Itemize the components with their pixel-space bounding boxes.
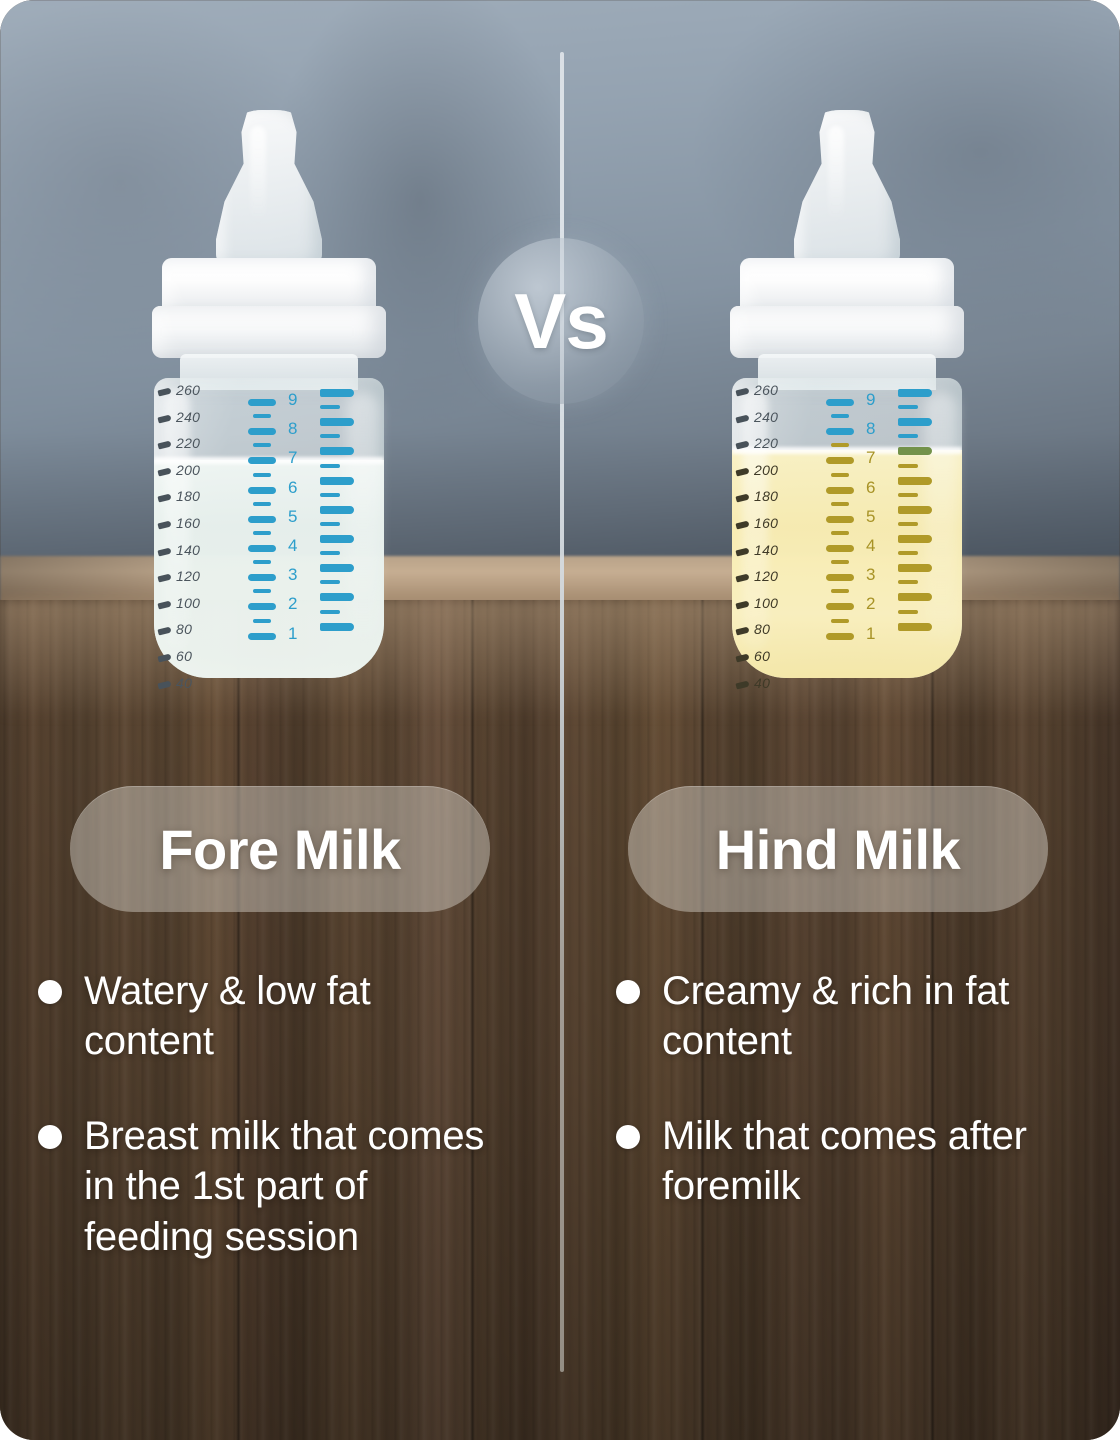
ml-label: 140 bbox=[176, 542, 200, 558]
versus-badge: Vs bbox=[478, 238, 644, 404]
ml-label: 180 bbox=[176, 488, 200, 504]
oz-minor-tick bbox=[320, 493, 340, 497]
oz-tick bbox=[248, 574, 276, 581]
oz-label: 3 bbox=[866, 565, 875, 585]
oz-minor-tick bbox=[831, 443, 849, 447]
ml-label: 40 bbox=[176, 675, 192, 691]
oz-minor-tick bbox=[320, 522, 340, 526]
oz-tick bbox=[320, 506, 354, 514]
oz-minor-tick bbox=[831, 502, 849, 506]
pill-label: Fore Milk bbox=[159, 817, 400, 882]
oz-scale-column-secondary bbox=[898, 382, 954, 645]
oz-minor-tick bbox=[253, 531, 271, 535]
oz-tick bbox=[898, 389, 932, 397]
oz-minor-tick bbox=[320, 405, 340, 409]
ml-label: 160 bbox=[176, 515, 200, 531]
oz-minor-tick bbox=[831, 473, 849, 477]
bullet-text: Watery & low fat content bbox=[84, 966, 504, 1067]
measurement-scale: 260 240 220 200 180 160 140 120 100 80 6… bbox=[718, 382, 976, 682]
oz-label: 5 bbox=[866, 507, 875, 527]
ml-tick bbox=[735, 574, 749, 583]
oz-tick bbox=[248, 487, 276, 494]
ml-label: 100 bbox=[176, 595, 200, 611]
oz-minor-tick bbox=[253, 560, 271, 564]
oz-tick bbox=[248, 545, 276, 552]
ml-label: 60 bbox=[754, 648, 770, 664]
bullet-dot-icon bbox=[616, 980, 640, 1004]
oz-scale-column: 9 8 7 6 5 4 3 2 1 bbox=[826, 390, 886, 653]
ml-label: 200 bbox=[754, 462, 778, 478]
ml-label: 240 bbox=[754, 409, 778, 425]
oz-minor-tick bbox=[320, 464, 340, 468]
oz-minor-tick bbox=[898, 551, 918, 555]
ml-tick bbox=[735, 600, 749, 609]
list-item: Breast milk that comes in the 1st part o… bbox=[38, 1111, 538, 1262]
oz-minor-tick bbox=[253, 502, 271, 506]
oz-tick bbox=[248, 516, 276, 523]
oz-tick bbox=[320, 477, 354, 485]
oz-tick bbox=[826, 457, 854, 464]
oz-tick bbox=[826, 399, 854, 406]
oz-label: 6 bbox=[866, 478, 875, 498]
oz-label: 9 bbox=[288, 390, 297, 410]
oz-minor-tick bbox=[898, 522, 918, 526]
oz-tick bbox=[826, 516, 854, 523]
ml-label: 80 bbox=[754, 621, 770, 637]
oz-minor-tick bbox=[320, 551, 340, 555]
list-item: Milk that comes after foremilk bbox=[616, 1111, 1116, 1212]
oz-label: 1 bbox=[288, 624, 297, 644]
oz-tick bbox=[826, 574, 854, 581]
measurement-scale: 260 240 220 200 180 160 140 120 100 80 6… bbox=[140, 382, 398, 682]
ml-label: 220 bbox=[176, 435, 200, 451]
oz-tick bbox=[898, 564, 932, 572]
bullet-dot-icon bbox=[38, 980, 62, 1004]
oz-tick bbox=[898, 506, 932, 514]
ml-tick bbox=[157, 388, 171, 397]
ml-tick bbox=[157, 414, 171, 423]
oz-label: 1 bbox=[866, 624, 875, 644]
oz-minor-tick bbox=[898, 610, 918, 614]
ml-tick bbox=[735, 680, 749, 689]
oz-minor-tick bbox=[831, 531, 849, 535]
oz-tick bbox=[898, 477, 932, 485]
ml-label: 120 bbox=[754, 568, 778, 584]
ml-label: 100 bbox=[754, 595, 778, 611]
ml-tick bbox=[735, 627, 749, 636]
ml-label: 180 bbox=[754, 488, 778, 504]
oz-label: 7 bbox=[866, 448, 875, 468]
oz-minor-tick bbox=[253, 619, 271, 623]
bullet-dot-icon bbox=[38, 1125, 62, 1149]
ml-tick bbox=[157, 627, 171, 636]
ml-label: 140 bbox=[754, 542, 778, 558]
oz-tick bbox=[898, 447, 932, 455]
oz-label: 2 bbox=[866, 594, 875, 614]
oz-label: 8 bbox=[288, 419, 297, 439]
bullet-list-hind-milk: Creamy & rich in fat content Milk that c… bbox=[616, 966, 1116, 1256]
oz-minor-tick bbox=[831, 560, 849, 564]
oz-label: 7 bbox=[288, 448, 297, 468]
ml-tick bbox=[735, 388, 749, 397]
bullet-list-fore-milk: Watery & low fat content Breast milk tha… bbox=[38, 966, 538, 1306]
ml-tick bbox=[157, 441, 171, 450]
ml-label: 240 bbox=[176, 409, 200, 425]
ml-label: 120 bbox=[176, 568, 200, 584]
versus-label: Vs bbox=[514, 282, 607, 360]
oz-minor-tick bbox=[253, 589, 271, 593]
ml-tick bbox=[157, 520, 171, 529]
oz-label: 8 bbox=[866, 419, 875, 439]
ml-label: 200 bbox=[176, 462, 200, 478]
oz-label: 5 bbox=[288, 507, 297, 527]
oz-tick bbox=[320, 535, 354, 543]
ml-tick bbox=[157, 494, 171, 503]
oz-minor-tick bbox=[898, 405, 918, 409]
comparison-infographic-card: 260 240 220 200 180 160 140 120 100 80 6… bbox=[0, 0, 1120, 1440]
ml-tick bbox=[157, 467, 171, 476]
ml-scale-column: 260 240 220 200 180 160 140 120 100 80 6… bbox=[158, 382, 228, 701]
ml-tick bbox=[735, 467, 749, 476]
bullet-dot-icon bbox=[616, 1125, 640, 1149]
bullet-text: Creamy & rich in fat content bbox=[662, 966, 1092, 1067]
oz-tick bbox=[898, 418, 932, 426]
oz-minor-tick bbox=[320, 610, 340, 614]
oz-tick bbox=[248, 399, 276, 406]
oz-tick bbox=[826, 487, 854, 494]
ml-tick bbox=[157, 680, 171, 689]
bottle-collar-ring bbox=[152, 306, 386, 358]
oz-label: 9 bbox=[866, 390, 875, 410]
ml-tick bbox=[735, 441, 749, 450]
ml-label: 220 bbox=[754, 435, 778, 451]
oz-tick bbox=[248, 457, 276, 464]
oz-label: 2 bbox=[288, 594, 297, 614]
ml-label: 260 bbox=[176, 382, 200, 398]
bullet-text: Milk that comes after foremilk bbox=[662, 1111, 1092, 1212]
bullet-text: Breast milk that comes in the 1st part o… bbox=[84, 1111, 504, 1262]
oz-minor-tick bbox=[253, 414, 271, 418]
oz-minor-tick bbox=[253, 443, 271, 447]
oz-tick bbox=[898, 535, 932, 543]
oz-label: 4 bbox=[866, 536, 875, 556]
ml-tick bbox=[157, 574, 171, 583]
ml-tick bbox=[157, 653, 171, 662]
oz-tick bbox=[826, 545, 854, 552]
ml-label: 260 bbox=[754, 382, 778, 398]
oz-tick bbox=[320, 418, 354, 426]
ml-label: 80 bbox=[176, 621, 192, 637]
oz-minor-tick bbox=[898, 580, 918, 584]
oz-tick bbox=[826, 603, 854, 610]
ml-tick bbox=[157, 600, 171, 609]
ml-label: 60 bbox=[176, 648, 192, 664]
ml-label: 160 bbox=[754, 515, 778, 531]
list-item: Creamy & rich in fat content bbox=[616, 966, 1116, 1067]
pill-label: Hind Milk bbox=[716, 817, 960, 882]
ml-tick bbox=[157, 547, 171, 556]
ml-tick bbox=[735, 520, 749, 529]
oz-tick bbox=[826, 428, 854, 435]
oz-scale-column-secondary bbox=[320, 382, 376, 645]
ml-scale-column: 260 240 220 200 180 160 140 120 100 80 6… bbox=[736, 382, 806, 701]
oz-minor-tick bbox=[831, 619, 849, 623]
label-pill-hind-milk: Hind Milk bbox=[628, 786, 1048, 912]
oz-label: 4 bbox=[288, 536, 297, 556]
bottle-collar-ring bbox=[730, 306, 964, 358]
oz-tick bbox=[320, 593, 354, 601]
ml-tick bbox=[735, 653, 749, 662]
oz-tick bbox=[248, 603, 276, 610]
oz-tick bbox=[248, 428, 276, 435]
oz-minor-tick bbox=[831, 589, 849, 593]
ml-tick bbox=[735, 494, 749, 503]
oz-tick bbox=[320, 564, 354, 572]
oz-minor-tick bbox=[898, 493, 918, 497]
ml-label: 40 bbox=[754, 675, 770, 691]
ml-tick bbox=[735, 414, 749, 423]
oz-tick bbox=[248, 633, 276, 640]
oz-tick bbox=[320, 623, 354, 631]
list-item: Watery & low fat content bbox=[38, 966, 538, 1067]
oz-minor-tick bbox=[831, 414, 849, 418]
oz-minor-tick bbox=[898, 464, 918, 468]
oz-tick bbox=[320, 447, 354, 455]
oz-tick bbox=[826, 633, 854, 640]
oz-minor-tick bbox=[320, 434, 340, 438]
oz-tick bbox=[898, 623, 932, 631]
oz-tick bbox=[320, 389, 354, 397]
oz-label: 3 bbox=[288, 565, 297, 585]
oz-minor-tick bbox=[320, 580, 340, 584]
oz-scale-column: 9 8 7 6 5 4 3 2 1 bbox=[248, 390, 308, 653]
oz-label: 6 bbox=[288, 478, 297, 498]
oz-minor-tick bbox=[898, 434, 918, 438]
label-pill-fore-milk: Fore Milk bbox=[70, 786, 490, 912]
oz-minor-tick bbox=[253, 473, 271, 477]
ml-tick bbox=[735, 547, 749, 556]
oz-tick bbox=[898, 593, 932, 601]
